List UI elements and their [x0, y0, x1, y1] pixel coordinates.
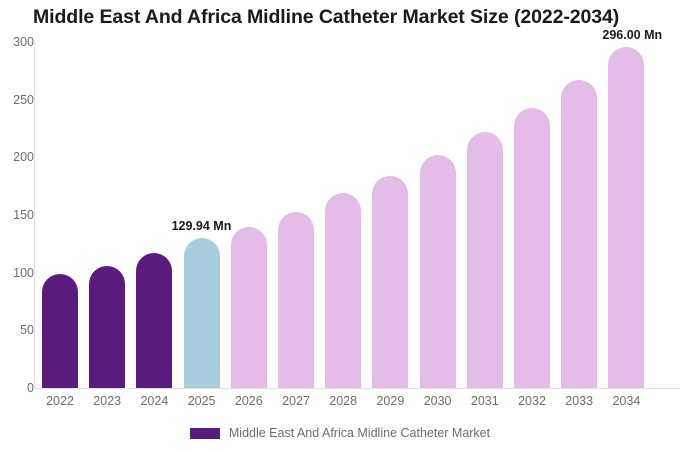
- bar-2032[interactable]: [514, 108, 550, 388]
- x-axis-tick-label: 2031: [459, 394, 511, 408]
- bar-2031[interactable]: [467, 132, 503, 388]
- x-axis-tick-label: 2023: [81, 394, 133, 408]
- x-axis-tick-label: 2032: [506, 394, 558, 408]
- x-axis-tick-label: 2026: [223, 394, 275, 408]
- bar-2023[interactable]: [89, 266, 125, 388]
- x-axis-tick-label: 2025: [176, 394, 228, 408]
- x-axis-tick-label: 2027: [270, 394, 322, 408]
- bar-2033[interactable]: [561, 80, 597, 388]
- legend-label: Middle East And Africa Midline Catheter …: [229, 426, 490, 440]
- chart-legend: Middle East And Africa Midline Catheter …: [0, 426, 680, 440]
- x-axis-tick-label: 2034: [600, 394, 652, 408]
- legend-color-swatch: [190, 428, 220, 439]
- x-axis-tick-label: 2030: [412, 394, 464, 408]
- bar-2026[interactable]: [231, 227, 267, 388]
- x-axis-tick-label: 2028: [317, 394, 369, 408]
- data-label-2034: 296.00 Mn: [602, 28, 662, 42]
- bar-chart: Middle East And Africa Midline Catheter …: [0, 0, 680, 450]
- x-axis-tick-label: 2022: [34, 394, 86, 408]
- x-axis-tick-label: 2029: [364, 394, 416, 408]
- legend-item[interactable]: Middle East And Africa Midline Catheter …: [190, 426, 490, 440]
- x-axis-tick-label: 2024: [128, 394, 180, 408]
- bar-2029[interactable]: [372, 176, 408, 388]
- bar-2030[interactable]: [420, 155, 456, 388]
- bar-2028[interactable]: [325, 193, 361, 388]
- bar-2024[interactable]: [136, 253, 172, 388]
- bar-2025[interactable]: [184, 238, 220, 388]
- x-axis-tick-label: 2033: [553, 394, 605, 408]
- bar-2034[interactable]: [608, 47, 644, 388]
- bar-2022[interactable]: [42, 274, 78, 388]
- bar-2027[interactable]: [278, 212, 314, 388]
- bars-layer: 2022202320242025129.94 Mn202620272028202…: [0, 0, 680, 450]
- data-label-2025: 129.94 Mn: [172, 219, 232, 233]
